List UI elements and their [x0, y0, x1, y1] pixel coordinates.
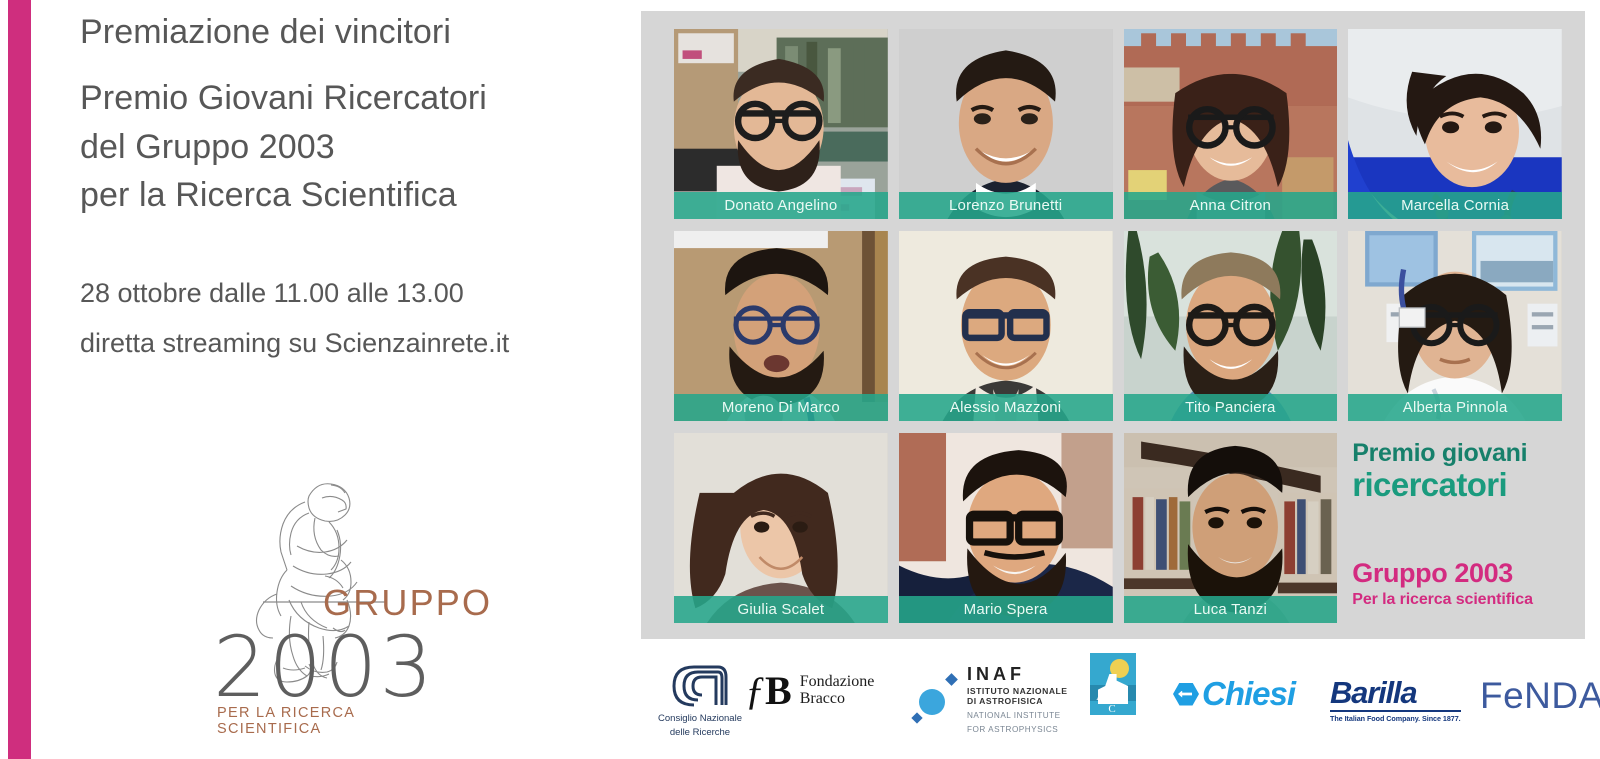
sponsor-fenda[interactable]: FeNDA: [1480, 675, 1600, 717]
winner-photo: [674, 29, 888, 219]
winner-name-bar: Lorenzo Brunetti: [899, 192, 1113, 219]
left-text-panel: Premiazione dei vincitori Premio Giovani…: [80, 8, 620, 369]
sponsor-barilla-slogan: The Italian Food Company. Since 1877.: [1330, 714, 1461, 723]
sponsor-barilla-label: Barilla: [1330, 675, 1416, 711]
inaf-circle-icon: [919, 689, 945, 715]
chiesi-hex-icon: [1173, 683, 1199, 706]
sponsor-bracco-label: Fondazione Bracco: [800, 674, 875, 708]
logo-year-2003: 2003: [213, 618, 435, 716]
winner-name: Mario Spera: [964, 601, 1048, 618]
winner-photo: [1348, 231, 1562, 421]
cnr-logo-icon: [668, 663, 732, 709]
bracco-monogram-icon: ƒB: [745, 671, 792, 711]
winner-name-bar: Giulia Scalet: [674, 596, 888, 623]
promo-line-2: ricercatori: [1352, 466, 1507, 504]
winner-card[interactable]: Moreno Di Marco: [674, 231, 888, 421]
barilla-underline: [1330, 710, 1461, 712]
winner-name: Marcella Cornia: [1401, 197, 1509, 214]
bracco-monogram-b: B: [765, 668, 792, 713]
inaf-diamond-bottom-icon: [911, 713, 922, 724]
airc-logo-icon: A I R C: [1090, 653, 1136, 715]
sponsor-barilla[interactable]: Barilla The Italian Food Company. Since …: [1330, 675, 1461, 723]
winners-grid: Donato Angelino: [674, 29, 1562, 623]
winner-name: Donato Angelino: [724, 197, 837, 214]
winner-photo: [899, 29, 1113, 219]
winner-card[interactable]: Marcella Cornia: [1348, 29, 1562, 219]
winner-name: Alessio Mazzoni: [950, 399, 1061, 416]
event-details: 28 ottobre dalle 11.00 alle 13.00 dirett…: [80, 269, 620, 369]
page-title: Premiazione dei vincitori Premio Giovani…: [80, 8, 620, 219]
winner-name-bar: Moreno Di Marco: [674, 394, 888, 421]
headline-spacer: [80, 56, 620, 74]
sponsor-chiesi[interactable]: Chiesi: [1173, 675, 1295, 713]
poster-canvas: Premiazione dei vincitori Premio Giovani…: [0, 0, 1600, 759]
logo-tagline: PER LA RICERCA SCIENTIFICA: [217, 705, 455, 737]
sponsor-fondazione-bracco[interactable]: ƒB Fondazione Bracco: [745, 671, 874, 711]
winner-name-bar: Donato Angelino: [674, 192, 888, 219]
winner-card[interactable]: Donato Angelino: [674, 29, 888, 219]
winners-mosaic: Donato Angelino: [641, 11, 1585, 639]
winner-name-bar: Mario Spera: [899, 596, 1113, 623]
headline-line-3: del Gruppo 2003: [80, 123, 620, 171]
winner-card[interactable]: Lorenzo Brunetti: [899, 29, 1113, 219]
winner-name-bar: Tito Panciera: [1124, 394, 1338, 421]
cnr-line-2: delle Ricerche: [670, 727, 730, 738]
sponsor-inaf[interactable]: INAF ISTITUTO NAZIONALE DI ASTROFISICA N…: [913, 663, 1068, 735]
winner-name: Alberta Pinnola: [1403, 399, 1508, 416]
winner-name: Moreno Di Marco: [722, 399, 840, 416]
inaf-diamond-top-icon: [945, 673, 958, 686]
winner-card[interactable]: Giulia Scalet: [674, 433, 888, 623]
winner-name-bar: Marcella Cornia: [1348, 192, 1562, 219]
cnr-line-1: Consiglio Nazionale: [658, 713, 742, 724]
sponsor-chiesi-label: Chiesi: [1202, 675, 1295, 713]
winner-card[interactable]: Alessio Mazzoni: [899, 231, 1113, 421]
winner-name-bar: Luca Tanzi: [1124, 596, 1338, 623]
winner-photo: [1124, 29, 1338, 219]
sponsor-cnr-label: Consiglio Nazionale delle Ricerche: [658, 712, 742, 740]
winner-photo: [1124, 433, 1338, 623]
headline-line-4: per la Ricerca Scientifica: [80, 171, 620, 219]
winner-photo: [674, 433, 888, 623]
winner-photo: [1348, 29, 1562, 219]
event-streaming: diretta streaming su Scienzainrete.it: [80, 319, 620, 369]
winner-card[interactable]: Tito Panciera: [1124, 231, 1338, 421]
winner-name-bar: Anna Citron: [1124, 192, 1338, 219]
bracco-line-2: Bracco: [800, 690, 845, 707]
inaf-it-line-1: ISTITUTO NAZIONALE: [967, 686, 1068, 697]
winner-card[interactable]: Alberta Pinnola: [1348, 231, 1562, 421]
gruppo2003-logo: GRUPPO 2003 PER LA RICERCA SCIENTIFICA: [205, 450, 455, 735]
bracco-line-1: Fondazione: [800, 673, 875, 690]
winner-name-bar: Alberta Pinnola: [1348, 394, 1562, 421]
accent-bar: [8, 0, 31, 759]
winner-name: Anna Citron: [1190, 197, 1271, 214]
winner-card[interactable]: Mario Spera: [899, 433, 1113, 623]
winner-name: Tito Panciera: [1185, 399, 1275, 416]
winner-card[interactable]: Anna Citron: [1124, 29, 1338, 219]
inaf-acronym: INAF: [967, 663, 1068, 686]
winner-photo: [674, 231, 888, 421]
headline-line-1: Premiazione dei vincitori: [80, 8, 620, 56]
sponsor-inaf-label: INAF ISTITUTO NAZIONALE DI ASTROFISICA N…: [967, 663, 1068, 735]
promo-block: Premio giovani ricercatori Gruppo 2003 P…: [1348, 433, 1562, 623]
winner-name: Lorenzo Brunetti: [949, 197, 1062, 214]
winner-photo: [1124, 231, 1338, 421]
promo-line-1: Premio giovani: [1352, 439, 1527, 468]
sponsor-strip: Consiglio Nazionale delle Ricerche ƒB Fo…: [625, 645, 1585, 757]
event-datetime: 28 ottobre dalle 11.00 alle 13.00: [80, 269, 620, 319]
winner-photo: [899, 231, 1113, 421]
sponsor-airc[interactable]: A I R C: [1090, 653, 1136, 715]
sponsor-fenda-label: FeNDA: [1480, 675, 1600, 717]
promo-line-4: Per la ricerca scientifica: [1352, 591, 1533, 609]
winner-name: Luca Tanzi: [1194, 601, 1267, 618]
inaf-en-line-1: NATIONAL INSTITUTE: [967, 711, 1068, 721]
sponsor-cnr[interactable]: Consiglio Nazionale delle Ricerche: [640, 663, 760, 740]
inaf-en-line-2: FOR ASTROPHYSICS: [967, 725, 1068, 735]
headline-line-2: Premio Giovani Ricercatori: [80, 74, 620, 122]
winner-card[interactable]: Luca Tanzi: [1124, 433, 1338, 623]
winner-photo: [899, 433, 1113, 623]
winner-name: Giulia Scalet: [737, 601, 824, 618]
inaf-it-line-2: DI ASTROFISICA: [967, 696, 1068, 707]
inaf-dots-icon: [913, 673, 961, 725]
winner-name-bar: Alessio Mazzoni: [899, 394, 1113, 421]
promo-line-3: Gruppo 2003: [1352, 558, 1513, 589]
airc-label: A I R C: [1090, 691, 1136, 715]
